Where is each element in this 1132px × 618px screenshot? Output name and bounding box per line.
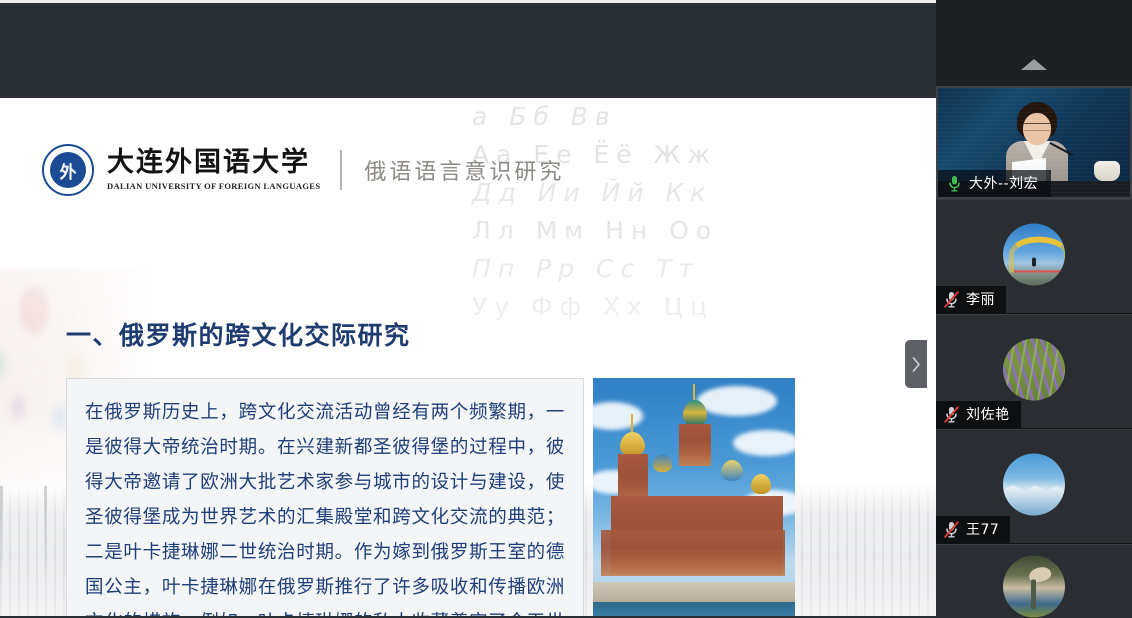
avatar	[1003, 556, 1065, 618]
canal-water	[593, 602, 795, 616]
cloud	[697, 386, 777, 416]
participant-tile[interactable]: 刘佐艳	[936, 314, 1132, 429]
microphone-muted-icon[interactable]	[944, 291, 959, 308]
cloud	[593, 402, 643, 430]
university-name-cn: 大连外国语大学	[107, 149, 320, 177]
avatar	[1003, 453, 1065, 515]
church-on-spilled-blood-photo	[593, 378, 795, 616]
cyrillic-line: Уу Фф Хх Цц	[466, 288, 936, 326]
section-title: 一、俄罗斯的跨文化交际研究	[66, 316, 411, 352]
participant-tile[interactable]: 李丽	[936, 199, 1132, 314]
collapse-panel-button[interactable]	[905, 340, 927, 388]
participant-name: 大外--刘宏	[969, 173, 1038, 193]
participant-name-bar: 李丽	[936, 286, 1006, 313]
microphone-muted-icon[interactable]	[944, 406, 959, 423]
university-name-block: 大连外国语大学 DALIAN UNIVERSITY OF FOREIGN LAN…	[107, 149, 320, 190]
chevron-right-icon	[912, 357, 921, 372]
participant-tile[interactable]: 王77	[936, 429, 1132, 544]
university-logo-icon: 外	[42, 144, 94, 196]
small-dome	[751, 474, 771, 494]
avatar	[1003, 338, 1065, 400]
participant-name-bar: 刘佐艳	[936, 401, 1021, 428]
header-divider	[340, 150, 342, 190]
church-base	[601, 530, 785, 576]
slide-text-box: 在俄罗斯历史上，跨文化交流活动曾经有两个频繁期，一是彼得大帝统治时期。在兴建新都…	[66, 378, 584, 616]
scroll-up-button[interactable]	[936, 0, 1132, 86]
small-dome	[653, 454, 672, 472]
triangle-up-icon	[1021, 59, 1047, 70]
embankment	[593, 582, 795, 602]
participant-name: 刘佐艳	[966, 404, 1010, 424]
gold-dome	[620, 432, 645, 456]
microphone-muted-icon[interactable]	[944, 521, 959, 538]
conference-window: а Бб Вв Аа Ее Ёё Жж Дд Ии Йй Кк Лл Мм Нн…	[0, 0, 1132, 618]
presentation-slide[interactable]: а Бб Вв Аа Ее Ёё Жж Дд Ии Йй Кк Лл Мм Нн…	[0, 98, 936, 616]
participant-tile-partial[interactable]	[936, 544, 1132, 618]
cyrillic-line: Лл Мм Нн Оо	[466, 212, 936, 250]
desk-microphone	[1050, 142, 1074, 156]
participant-name-bar: 大外--刘宏	[938, 170, 1051, 197]
participant-tile-active[interactable]: 大外--刘宏	[936, 86, 1132, 199]
participant-name-bar: 王77	[936, 516, 1010, 543]
slide-header: 外 大连外国语大学 DALIAN UNIVERSITY OF FOREIGN L…	[42, 144, 564, 196]
university-name-en: DALIAN UNIVERSITY OF FOREIGN LANGUAGES	[107, 181, 320, 191]
main-tower	[679, 424, 711, 466]
slide-body-text: 在俄罗斯历史上，跨文化交流活动曾经有两个频繁期，一是彼得大帝统治时期。在兴建新都…	[85, 395, 565, 616]
cyrillic-line: а Бб Вв	[466, 98, 936, 136]
slide-subtitle: 俄语语言意识研究	[364, 154, 564, 186]
avatar	[1003, 223, 1065, 285]
screen-share-region: а Бб Вв Аа Ее Ёё Жж Дд Ии Йй Кк Лл Мм Нн…	[0, 3, 936, 618]
small-dome	[721, 460, 743, 481]
participant-name: 李丽	[966, 289, 995, 309]
participant-name: 王77	[966, 519, 999, 539]
main-dome	[683, 400, 707, 426]
microphone-on-icon[interactable]	[947, 175, 962, 192]
cloud	[733, 430, 795, 456]
cyrillic-line: Пп Рр Сс Тт	[466, 250, 936, 288]
participant-rail[interactable]: 大外--刘宏 李丽	[936, 0, 1132, 618]
teacup	[1094, 161, 1120, 181]
cyrillic-alphabet-watermark: а Бб Вв Аа Ее Ёё Жж Дд Ии Йй Кк Лл Мм Нн…	[466, 98, 936, 388]
